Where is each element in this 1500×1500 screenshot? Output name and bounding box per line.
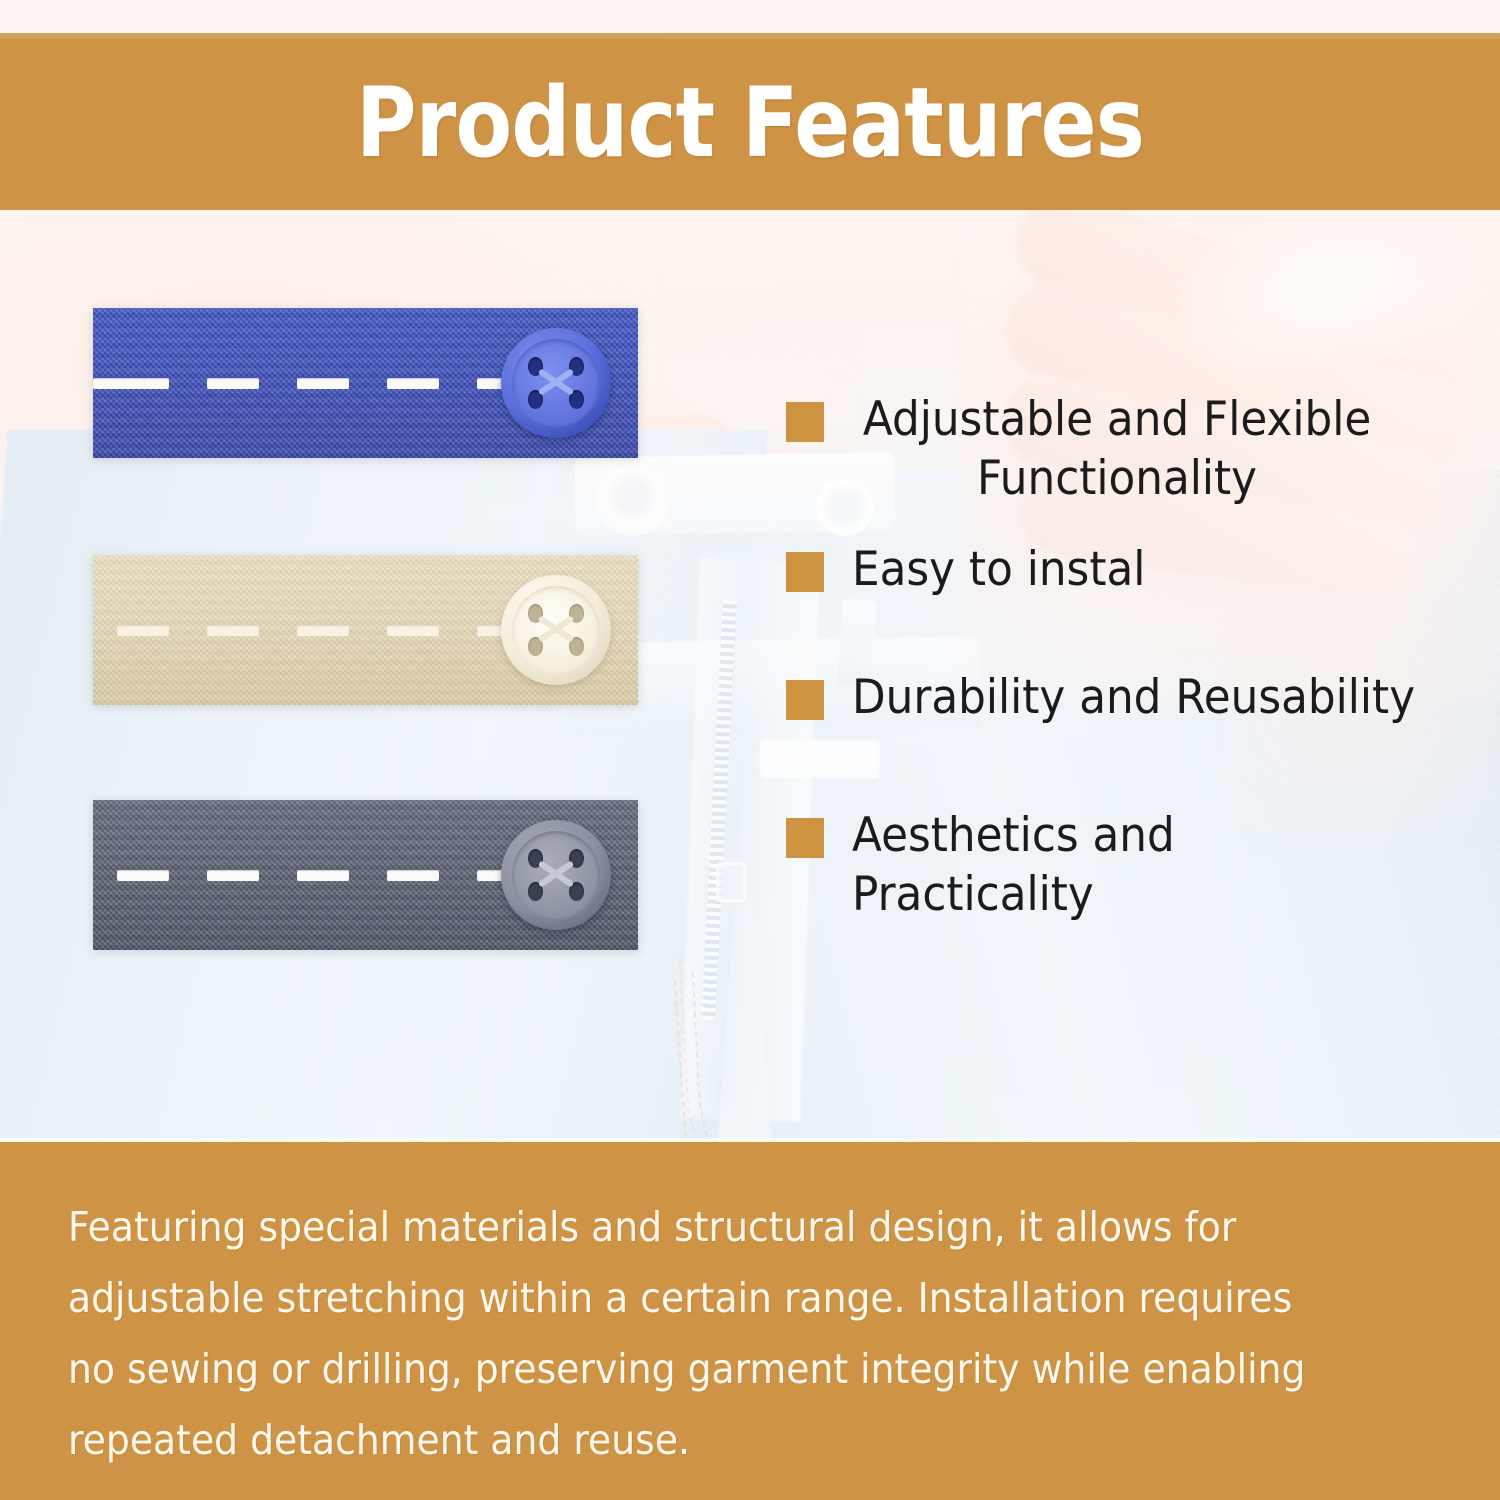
square-bullet-icon	[786, 402, 824, 442]
button-face	[512, 831, 600, 919]
buttonhole-slit	[207, 378, 259, 389]
buttonhole-slit	[207, 625, 259, 636]
product-strip-blue	[93, 308, 638, 458]
feature-label: Aesthetics and Practicality	[852, 806, 1423, 924]
product-button-blue	[501, 328, 611, 438]
feature-item-durability-and-reusability: Durability and Reusability	[786, 668, 1457, 727]
product-strip-beige	[93, 555, 638, 705]
footer-description: Featuring special materials and structur…	[68, 1192, 1338, 1476]
feature-label: Easy to instal	[852, 540, 1145, 599]
buttonhole-slit	[297, 870, 349, 881]
feature-label: Adjustable and Flexible Functionality	[852, 390, 1382, 508]
product-button-beige	[501, 575, 611, 685]
buttonhole-slit	[387, 378, 439, 389]
page-title: Product Features	[105, 75, 1395, 171]
buttonhole-slit	[297, 378, 349, 389]
square-bullet-icon	[786, 680, 824, 720]
button-face	[512, 339, 600, 427]
feature-item-adjustable-and-flexible-functionality: Adjustable and Flexible Functionality	[786, 390, 1422, 508]
buttonhole-slit	[93, 378, 145, 389]
buttonhole-slit	[117, 870, 169, 881]
buttonhole-slit	[387, 625, 439, 636]
buttonhole-slit	[207, 870, 259, 881]
feature-label: Durability and Reusability	[852, 668, 1415, 727]
feature-item-easy-to-instal: Easy to instal	[786, 540, 1167, 599]
square-bullet-icon	[786, 552, 824, 592]
buttonhole-slit	[117, 625, 169, 636]
product-features-infographic: Adjustable and Flexible Functionality Ea…	[0, 0, 1500, 1500]
buttonhole-slit	[297, 625, 349, 636]
square-bullet-icon	[786, 818, 824, 858]
buttonhole-slit	[387, 870, 439, 881]
feature-item-aesthetics-and-practicality: Aesthetics and Practicality	[786, 806, 1466, 924]
product-strip-gray	[93, 800, 638, 950]
product-button-gray	[501, 820, 611, 930]
button-face	[512, 586, 600, 674]
